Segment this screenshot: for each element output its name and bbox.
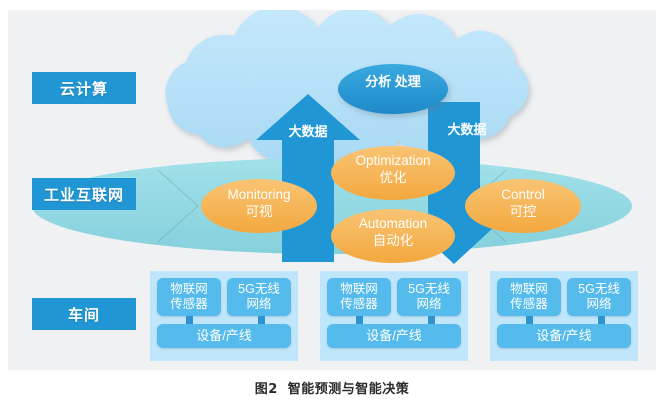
analysis-node	[338, 64, 448, 114]
workshop-2-connector-left	[356, 316, 363, 324]
workshop-3-connectors	[497, 316, 631, 324]
figure-canvas: 分析 处理 大数据 大数据 Monitoring 可视 Optimization…	[8, 10, 656, 370]
workshop-3-equipment-box: 设备/产线	[497, 324, 631, 348]
ws1-sensor-line1: 物联网	[170, 282, 208, 297]
stage-label-workshop: 车间	[32, 298, 136, 330]
ws3-network-line1: 5G无线	[578, 282, 620, 297]
ws2-sensor-line1: 物联网	[340, 282, 378, 297]
stage-label-cloud-computing: 云计算	[32, 72, 136, 104]
workshop-1-connectors	[157, 316, 291, 324]
workshop-1-connector-right	[258, 316, 265, 324]
ellipse-control	[465, 179, 581, 233]
figure-caption: 图2智能预测与智能决策	[0, 378, 664, 397]
ws3-sensor-line2: 传感器	[510, 297, 548, 312]
figure-caption-title: 智能预测与智能决策	[288, 382, 410, 397]
workshop-2-top-row: 物联网 传感器 5G无线 网络	[327, 278, 461, 316]
ws3-sensor-line1: 物联网	[510, 282, 548, 297]
workshop-1-connector-left	[186, 316, 193, 324]
workshop-group-3: 物联网 传感器 5G无线 网络 设备/产线	[490, 271, 638, 361]
workshop-2-equipment-box: 设备/产线	[327, 324, 461, 348]
workshop-1-5g-network-box: 5G无线 网络	[227, 278, 291, 316]
ws2-network-line2: 网络	[408, 297, 450, 312]
ws1-network-line1: 5G无线	[238, 282, 280, 297]
ws1-network-line2: 网络	[238, 297, 280, 312]
figure-page: 分析 处理 大数据 大数据 Monitoring 可视 Optimization…	[0, 0, 664, 412]
workshop-1-top-row: 物联网 传感器 5G无线 网络	[157, 278, 291, 316]
ws1-sensor-line2: 传感器	[170, 297, 208, 312]
workshop-3-connector-left	[526, 316, 533, 324]
figure-caption-number: 图2	[255, 382, 278, 397]
workshop-2-connectors	[327, 316, 461, 324]
workshop-3-connector-right	[598, 316, 605, 324]
ellipse-automation	[331, 209, 455, 263]
workshop-group-1: 物联网 传感器 5G无线 网络 设备/产线	[150, 271, 298, 361]
ws3-network-line2: 网络	[578, 297, 620, 312]
ellipse-monitoring	[201, 179, 317, 233]
workshop-3-iot-sensor-box: 物联网 传感器	[497, 278, 561, 316]
workshop-1-equipment-box: 设备/产线	[157, 324, 291, 348]
workshop-2-iot-sensor-box: 物联网 传感器	[327, 278, 391, 316]
workshop-1-iot-sensor-box: 物联网 传感器	[157, 278, 221, 316]
ellipse-optimization	[331, 146, 455, 200]
workshop-2-connector-right	[428, 316, 435, 324]
workshop-2-5g-network-box: 5G无线 网络	[397, 278, 461, 316]
ws2-network-line1: 5G无线	[408, 282, 450, 297]
ws2-sensor-line2: 传感器	[340, 297, 378, 312]
workshop-group-2: 物联网 传感器 5G无线 网络 设备/产线	[320, 271, 468, 361]
workshop-3-5g-network-box: 5G无线 网络	[567, 278, 631, 316]
stage-label-industrial-internet: 工业互联网	[32, 178, 136, 210]
workshop-3-top-row: 物联网 传感器 5G无线 网络	[497, 278, 631, 316]
